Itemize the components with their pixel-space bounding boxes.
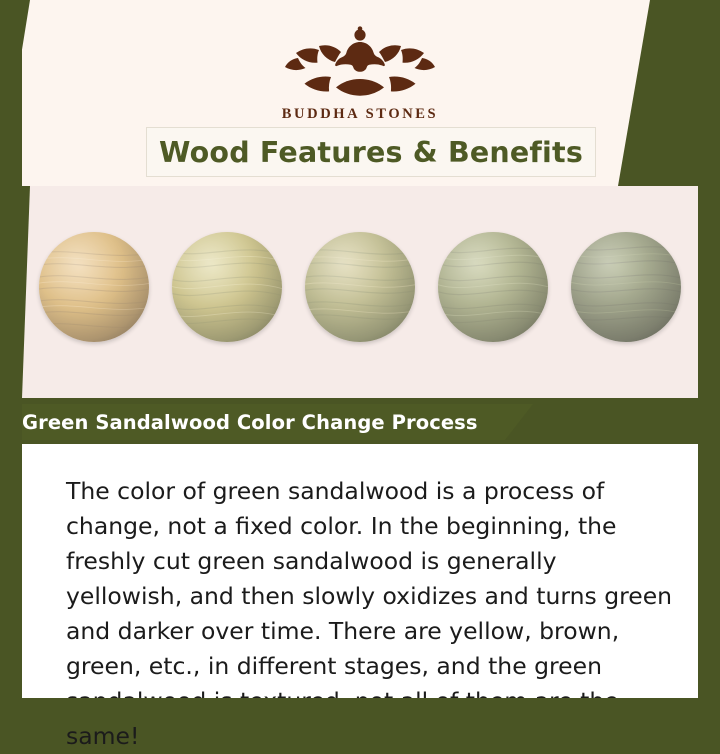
frame-right xyxy=(698,0,720,720)
sphere-shading xyxy=(571,232,681,342)
brand-logo: BUDDHA STONES xyxy=(0,22,720,123)
lotus-buddha-icon xyxy=(285,22,435,100)
sphere-shading xyxy=(39,232,149,342)
section-label-bar: Green Sandalwood Color Change Process xyxy=(0,404,533,440)
wood-sample-1 xyxy=(39,232,149,342)
page-title-text: Wood Features & Benefits xyxy=(159,136,583,169)
brand-name: BUDDHA STONES xyxy=(282,106,438,123)
wood-sample-gallery xyxy=(0,232,720,342)
sphere-shading xyxy=(172,232,282,342)
frame-bottom xyxy=(0,698,720,720)
frame-left xyxy=(0,0,22,720)
sphere-shading xyxy=(305,232,415,342)
sphere-shading xyxy=(438,232,548,342)
wood-sample-2 xyxy=(172,232,282,342)
wood-sample-3 xyxy=(305,232,415,342)
poster-page: BUDDHA STONES Wood Features & Benefits xyxy=(0,0,720,720)
wood-sample-4 xyxy=(438,232,548,342)
page-title: Wood Features & Benefits xyxy=(146,127,596,177)
wood-sample-5 xyxy=(571,232,681,342)
section-label-text: Green Sandalwood Color Change Process xyxy=(22,411,478,434)
body-card: The color of green sandalwood is a proce… xyxy=(22,444,698,698)
